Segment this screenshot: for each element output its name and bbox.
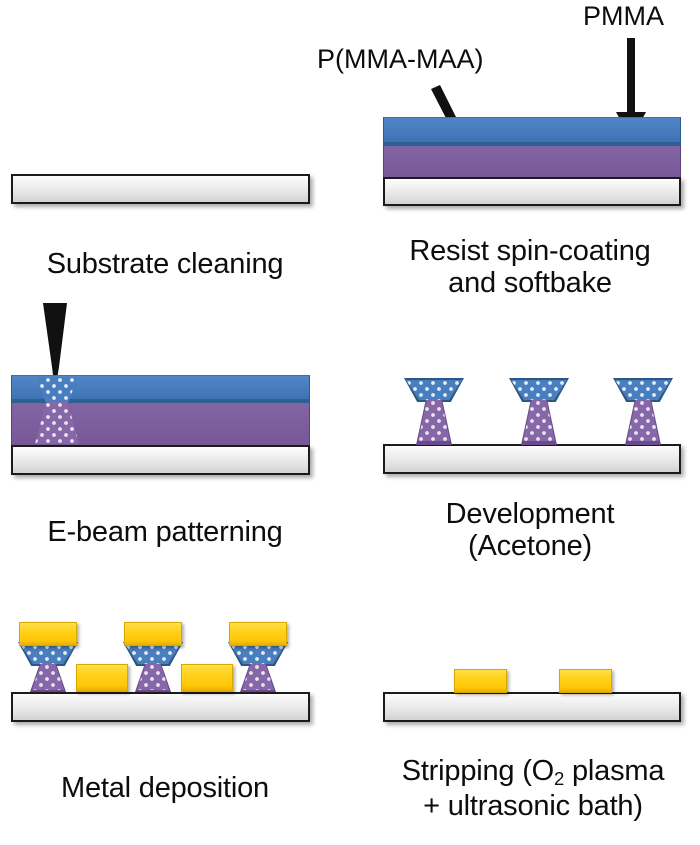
substrate-bar (383, 692, 681, 722)
caption-stripping: Stripping (O2 plasma + ultrasonic bath) (366, 755, 700, 822)
caption-line-1: Stripping (O2 plasma (366, 755, 700, 790)
caption-stripping-subscript: 2 (554, 768, 564, 789)
metal-pattern (559, 669, 612, 693)
caption-stripping-pre: Stripping (O (402, 755, 554, 787)
caption-line-2: + ultrasonic bath) (366, 790, 700, 822)
metal-pattern (454, 669, 507, 693)
panel-stripping (0, 0, 700, 845)
caption-stripping-post: plasma (564, 755, 664, 787)
